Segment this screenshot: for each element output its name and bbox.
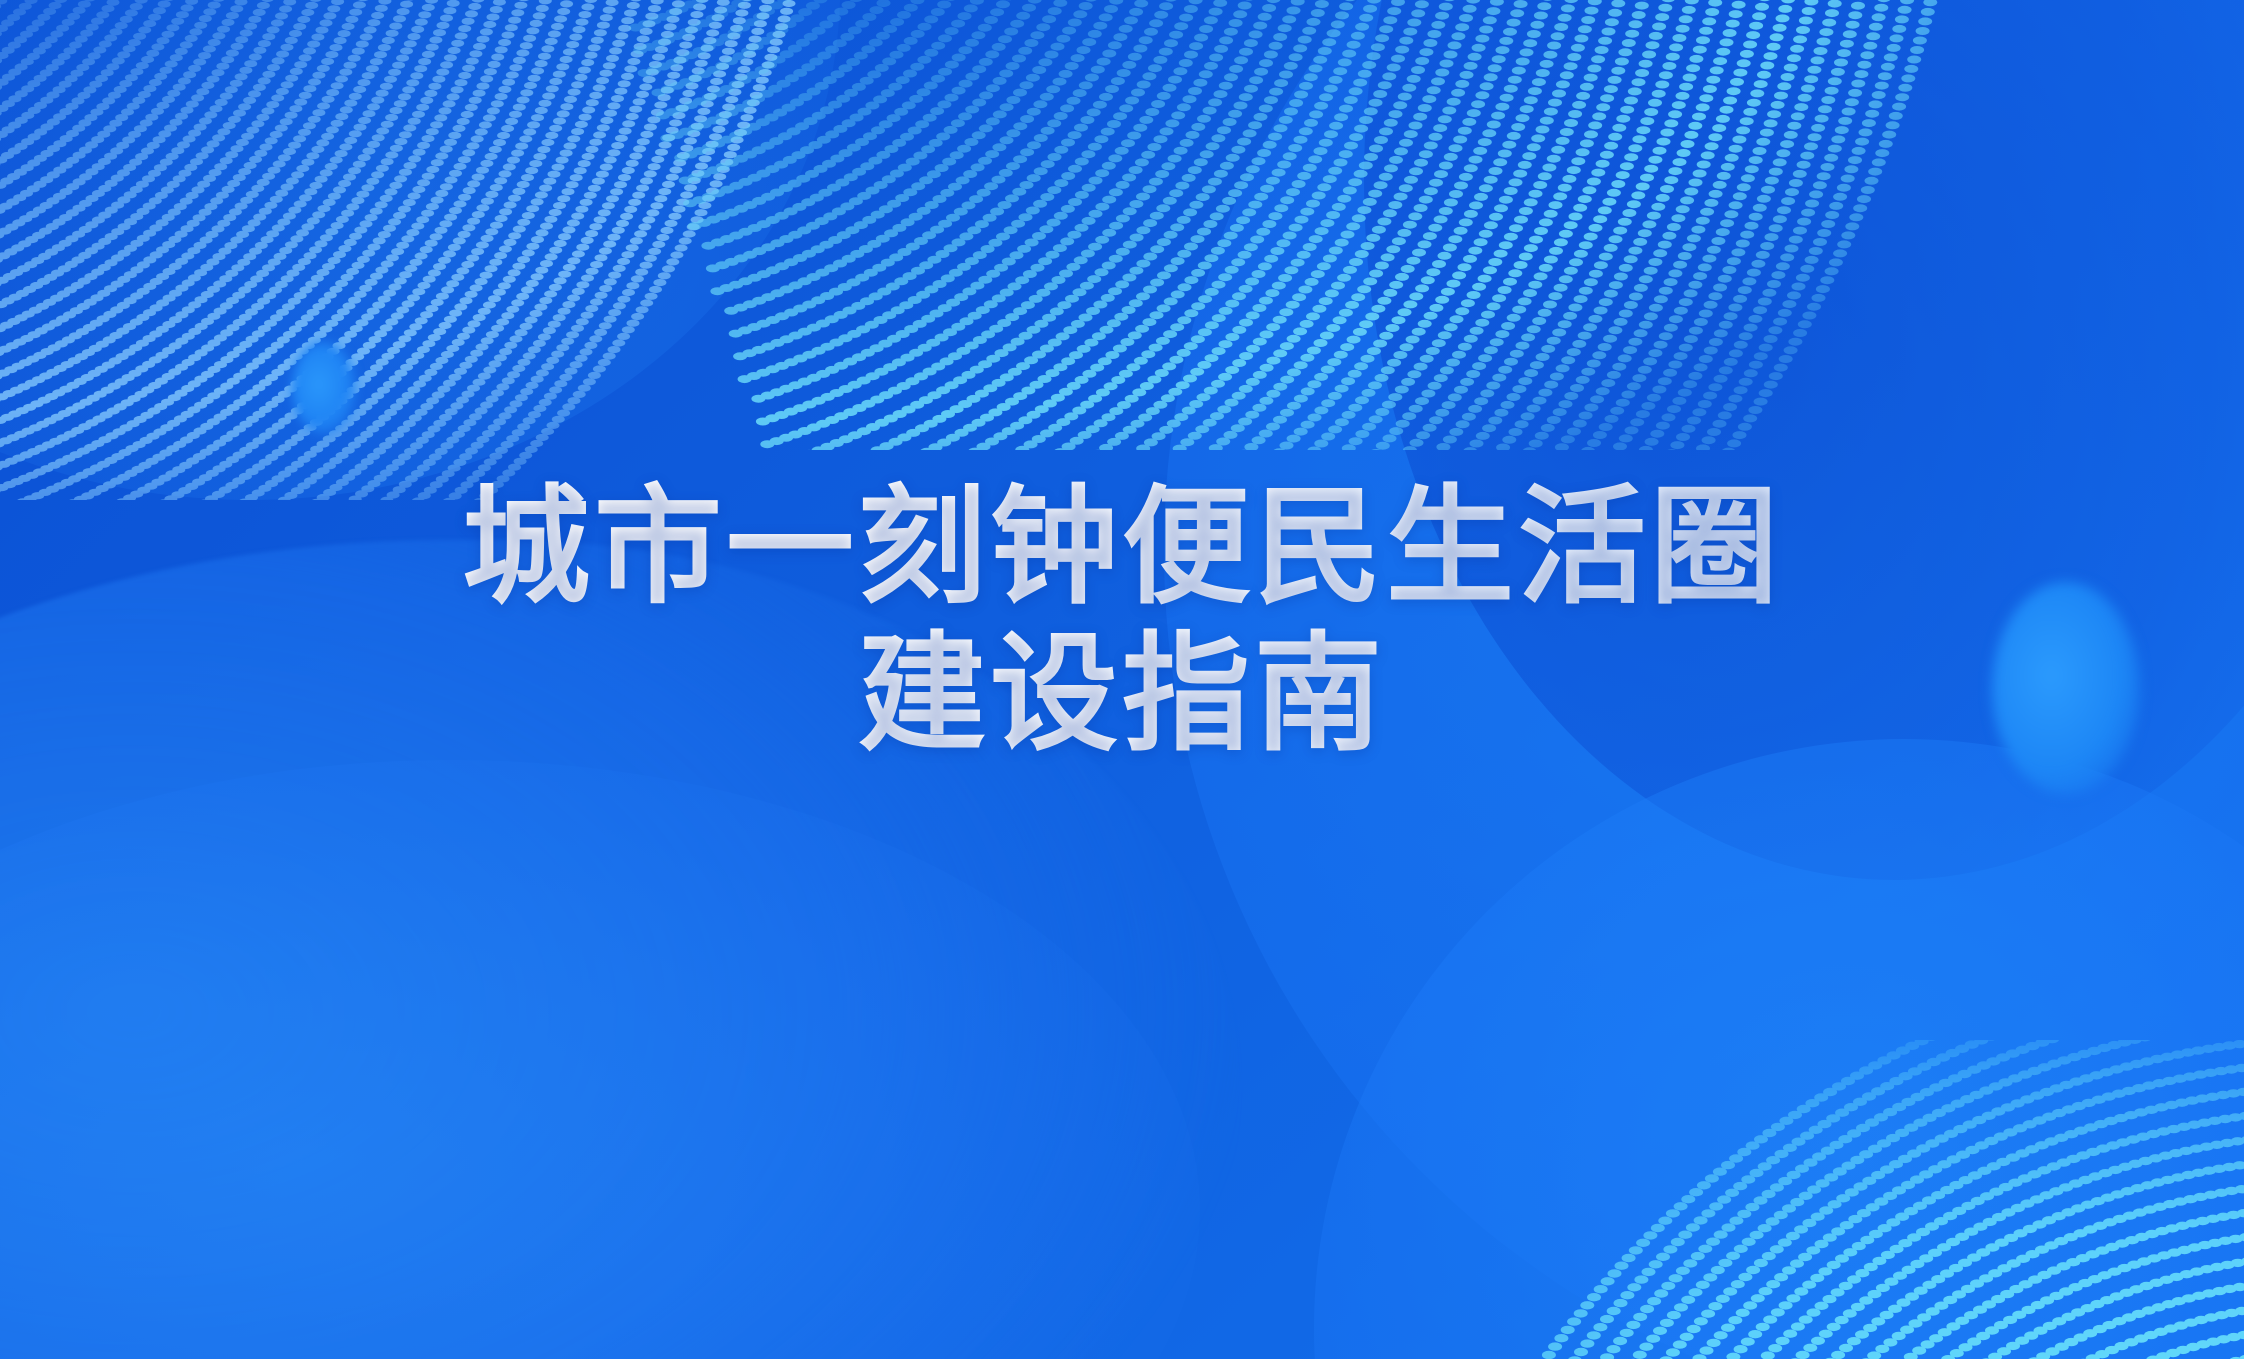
poster-title-line-2: 建设指南 bbox=[0, 621, 2244, 768]
poster-title-line-1: 城市一刻钟便民生活圈 bbox=[0, 474, 2244, 621]
halftone-arc-bottom-right-icon bbox=[1180, 1040, 2244, 1359]
background-sweep-top-left bbox=[0, 0, 840, 500]
glow-ellipse-left bbox=[292, 342, 356, 434]
halftone-arc-top-left-icon bbox=[0, 0, 1060, 500]
background-blob-bottom-left-2 bbox=[0, 760, 1200, 1359]
halftone-arc-top-right-icon bbox=[620, 0, 1960, 450]
poster-canvas: 城市一刻钟便民生活圈 建设指南 bbox=[0, 0, 2244, 1359]
background-circle-bottom-right bbox=[1314, 739, 2244, 1359]
poster-title: 城市一刻钟便民生活圈 建设指南 bbox=[0, 474, 2244, 768]
